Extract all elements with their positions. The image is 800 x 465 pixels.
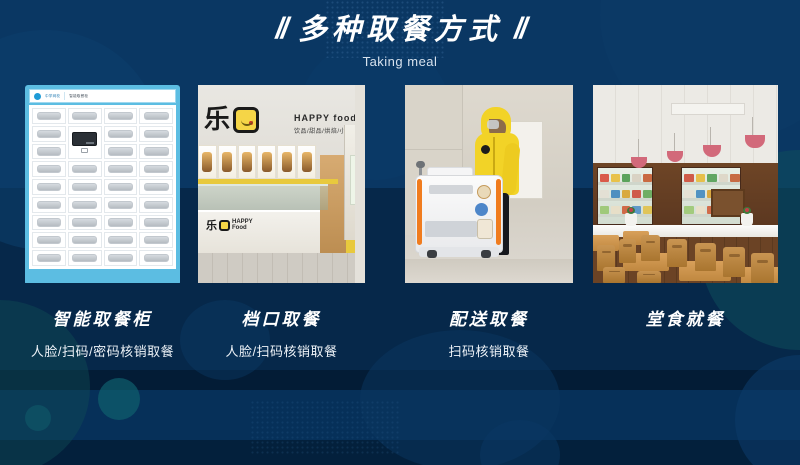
shop-wall-sign: 乐: [204, 107, 259, 133]
ceiling-vent: [671, 103, 745, 115]
robot-sticker-group: [475, 185, 497, 245]
card-smart-locker[interactable]: 中学网校 智能取餐柜: [25, 85, 180, 360]
card-dine-in[interactable]: 堂食就餐: [593, 85, 778, 341]
delivery-scene: [405, 85, 573, 283]
shop-logo-icon: [233, 107, 259, 133]
lobby-wall-seam: [405, 149, 463, 150]
locker-compartment[interactable]: [139, 144, 173, 160]
locker-compartment[interactable]: [139, 215, 173, 231]
locker-compartment[interactable]: [68, 179, 102, 195]
card-delivery-pickup[interactable]: 配送取餐 扫码核销取餐: [405, 85, 573, 360]
locker-cabinet: 中学网校 智能取餐柜: [25, 85, 180, 283]
shop-sign-character: 乐: [204, 107, 230, 133]
title-row: // 多种取餐方式 //: [0, 14, 800, 44]
locker-compartment[interactable]: [139, 250, 173, 266]
dot-pattern-bottom: [250, 400, 400, 455]
robot-wheel: [481, 250, 491, 258]
locker-compartment[interactable]: [32, 161, 66, 177]
drink-poster: [277, 145, 296, 179]
locker-brand-logo-icon: [34, 93, 41, 100]
locker-compartment[interactable]: [139, 232, 173, 248]
slash-right-icon: //: [514, 14, 525, 44]
wood-pillar: [320, 155, 346, 265]
locker-compartment[interactable]: [68, 108, 102, 124]
robot-sticker-icon: [475, 203, 488, 216]
delivery-robot-photo: [405, 85, 573, 283]
card-title: 智能取餐柜: [25, 305, 180, 330]
locker-touchscreen-panel[interactable]: [68, 126, 102, 160]
dining-chair: [619, 239, 636, 263]
locker-compartment[interactable]: [139, 197, 173, 213]
lobby-floor: [405, 259, 573, 283]
dining-chair: [641, 235, 660, 261]
page-header: // 多种取餐方式 // Taking meal: [0, 14, 800, 69]
locker-compartment[interactable]: [104, 108, 138, 124]
smart-locker-illustration: 中学网校 智能取餐柜: [25, 85, 180, 283]
robot-sticker-icon: [477, 219, 493, 239]
dining-chair: [667, 239, 687, 267]
potted-plant: [625, 213, 637, 226]
potted-plant: [741, 213, 753, 226]
counter-glass-display: [198, 184, 328, 210]
counter-logo-icon: [219, 220, 230, 231]
locker-compartment[interactable]: [68, 232, 102, 248]
robot-screen-icon: [429, 185, 473, 194]
locker-compartment[interactable]: [104, 215, 138, 231]
decorative-circle-teal-tiny: [25, 405, 51, 431]
locker-header-bar: 中学网校 智能取餐柜: [29, 89, 176, 103]
locker-display-screen-icon: [72, 132, 97, 147]
locker-compartment[interactable]: [104, 179, 138, 195]
card-caption: 档口取餐 人脸/扫码核销取餐: [198, 305, 365, 360]
wall-cabinet: [711, 189, 745, 217]
locker-compartment[interactable]: [104, 161, 138, 177]
storefront-scene: 乐 HAPPY food 饮品/甜品/烘焙/小吃王 乐 HAPPY F: [198, 85, 365, 283]
card-title: 档口取餐: [198, 305, 365, 330]
locker-header-divider: [64, 92, 65, 100]
card-title: 配送取餐: [405, 305, 573, 330]
counter-logo-character: 乐: [206, 217, 217, 233]
locker-compartment[interactable]: [32, 108, 66, 124]
shop-sign-english: HAPPY food: [294, 113, 357, 123]
locker-compartment[interactable]: [32, 197, 66, 213]
drink-poster: [257, 145, 276, 179]
locker-compartment[interactable]: [104, 144, 138, 160]
dining-chair: [603, 267, 625, 283]
dining-chair: [637, 271, 661, 283]
locker-compartment[interactable]: [68, 250, 102, 266]
drink-poster: [218, 145, 237, 179]
locker-compartment[interactable]: [32, 179, 66, 195]
dining-chair: [723, 247, 745, 277]
storefront-side-wall: [355, 85, 365, 283]
locker-compartment[interactable]: [104, 197, 138, 213]
storefront-photo: 乐 HAPPY food 饮品/甜品/烘焙/小吃王 乐 HAPPY F: [198, 85, 365, 283]
locker-compartment-grid: [29, 105, 176, 269]
robot-accent-stripe-left: [417, 179, 422, 245]
drink-poster: [297, 145, 316, 179]
locker-brand-text: 中学网校: [45, 94, 60, 99]
ceiling-tiles: [593, 85, 778, 163]
delivery-robot: [415, 165, 503, 257]
page-subtitle: Taking meal: [0, 54, 800, 69]
slash-left-icon: //: [275, 14, 286, 44]
method-cards: 中学网校 智能取餐柜: [0, 85, 800, 385]
robot-sticker-icon: [477, 185, 491, 199]
page-title: 多种取餐方式: [298, 15, 502, 44]
locker-compartment[interactable]: [68, 197, 102, 213]
locker-compartment[interactable]: [104, 232, 138, 248]
card-counter-pickup[interactable]: 乐 HAPPY food 饮品/甜品/烘焙/小吃王 乐 HAPPY F: [198, 85, 365, 360]
dining-scene: [593, 85, 778, 283]
locker-compartment[interactable]: [32, 250, 66, 266]
locker-compartment[interactable]: [139, 126, 173, 142]
drink-poster: [238, 145, 257, 179]
dining-chair: [751, 253, 774, 283]
locker-compartment[interactable]: [32, 232, 66, 248]
card-caption: 智能取餐柜 人脸/扫码/密码核销取餐: [25, 305, 180, 360]
dining-area-photo: [593, 85, 778, 283]
robot-wheel: [427, 250, 437, 258]
locker-compartment[interactable]: [32, 126, 66, 142]
card-caption: 配送取餐 扫码核销取餐: [405, 305, 573, 360]
locker-compartment[interactable]: [139, 179, 173, 195]
counter-logo: 乐 HAPPY Food: [206, 217, 253, 233]
counter-logo-en-2: Food: [232, 225, 247, 231]
courier-mask-icon: [487, 120, 499, 129]
locker-compartment[interactable]: [32, 144, 66, 160]
card-subtitle: 人脸/扫码/密码核销取餐: [25, 341, 180, 360]
locker-compartment[interactable]: [104, 250, 138, 266]
card-title: 堂食就餐: [593, 305, 778, 330]
locker-compartment[interactable]: [68, 215, 102, 231]
locker-panel-label: 智能取餐柜: [69, 94, 88, 99]
locker-compartment[interactable]: [68, 161, 102, 177]
locker-scanner-icon: [81, 148, 88, 153]
locker-compartment[interactable]: [139, 108, 173, 124]
locker-compartment[interactable]: [139, 161, 173, 177]
counter-logo-en-1: HAPPY: [232, 219, 253, 225]
counter-top: [593, 225, 778, 237]
card-caption: 堂食就餐: [593, 305, 778, 330]
card-subtitle: 扫码核销取餐: [405, 341, 573, 360]
drink-poster-row: [198, 145, 316, 179]
card-subtitle: 人脸/扫码核销取餐: [198, 341, 365, 360]
courier-chest-badge-icon: [481, 145, 490, 154]
tiled-floor: [198, 253, 365, 283]
robot-compartment-door: [425, 221, 477, 237]
drink-poster: [198, 145, 217, 179]
locker-compartment[interactable]: [32, 215, 66, 231]
locker-compartment[interactable]: [104, 126, 138, 142]
dining-chair: [695, 243, 716, 271]
